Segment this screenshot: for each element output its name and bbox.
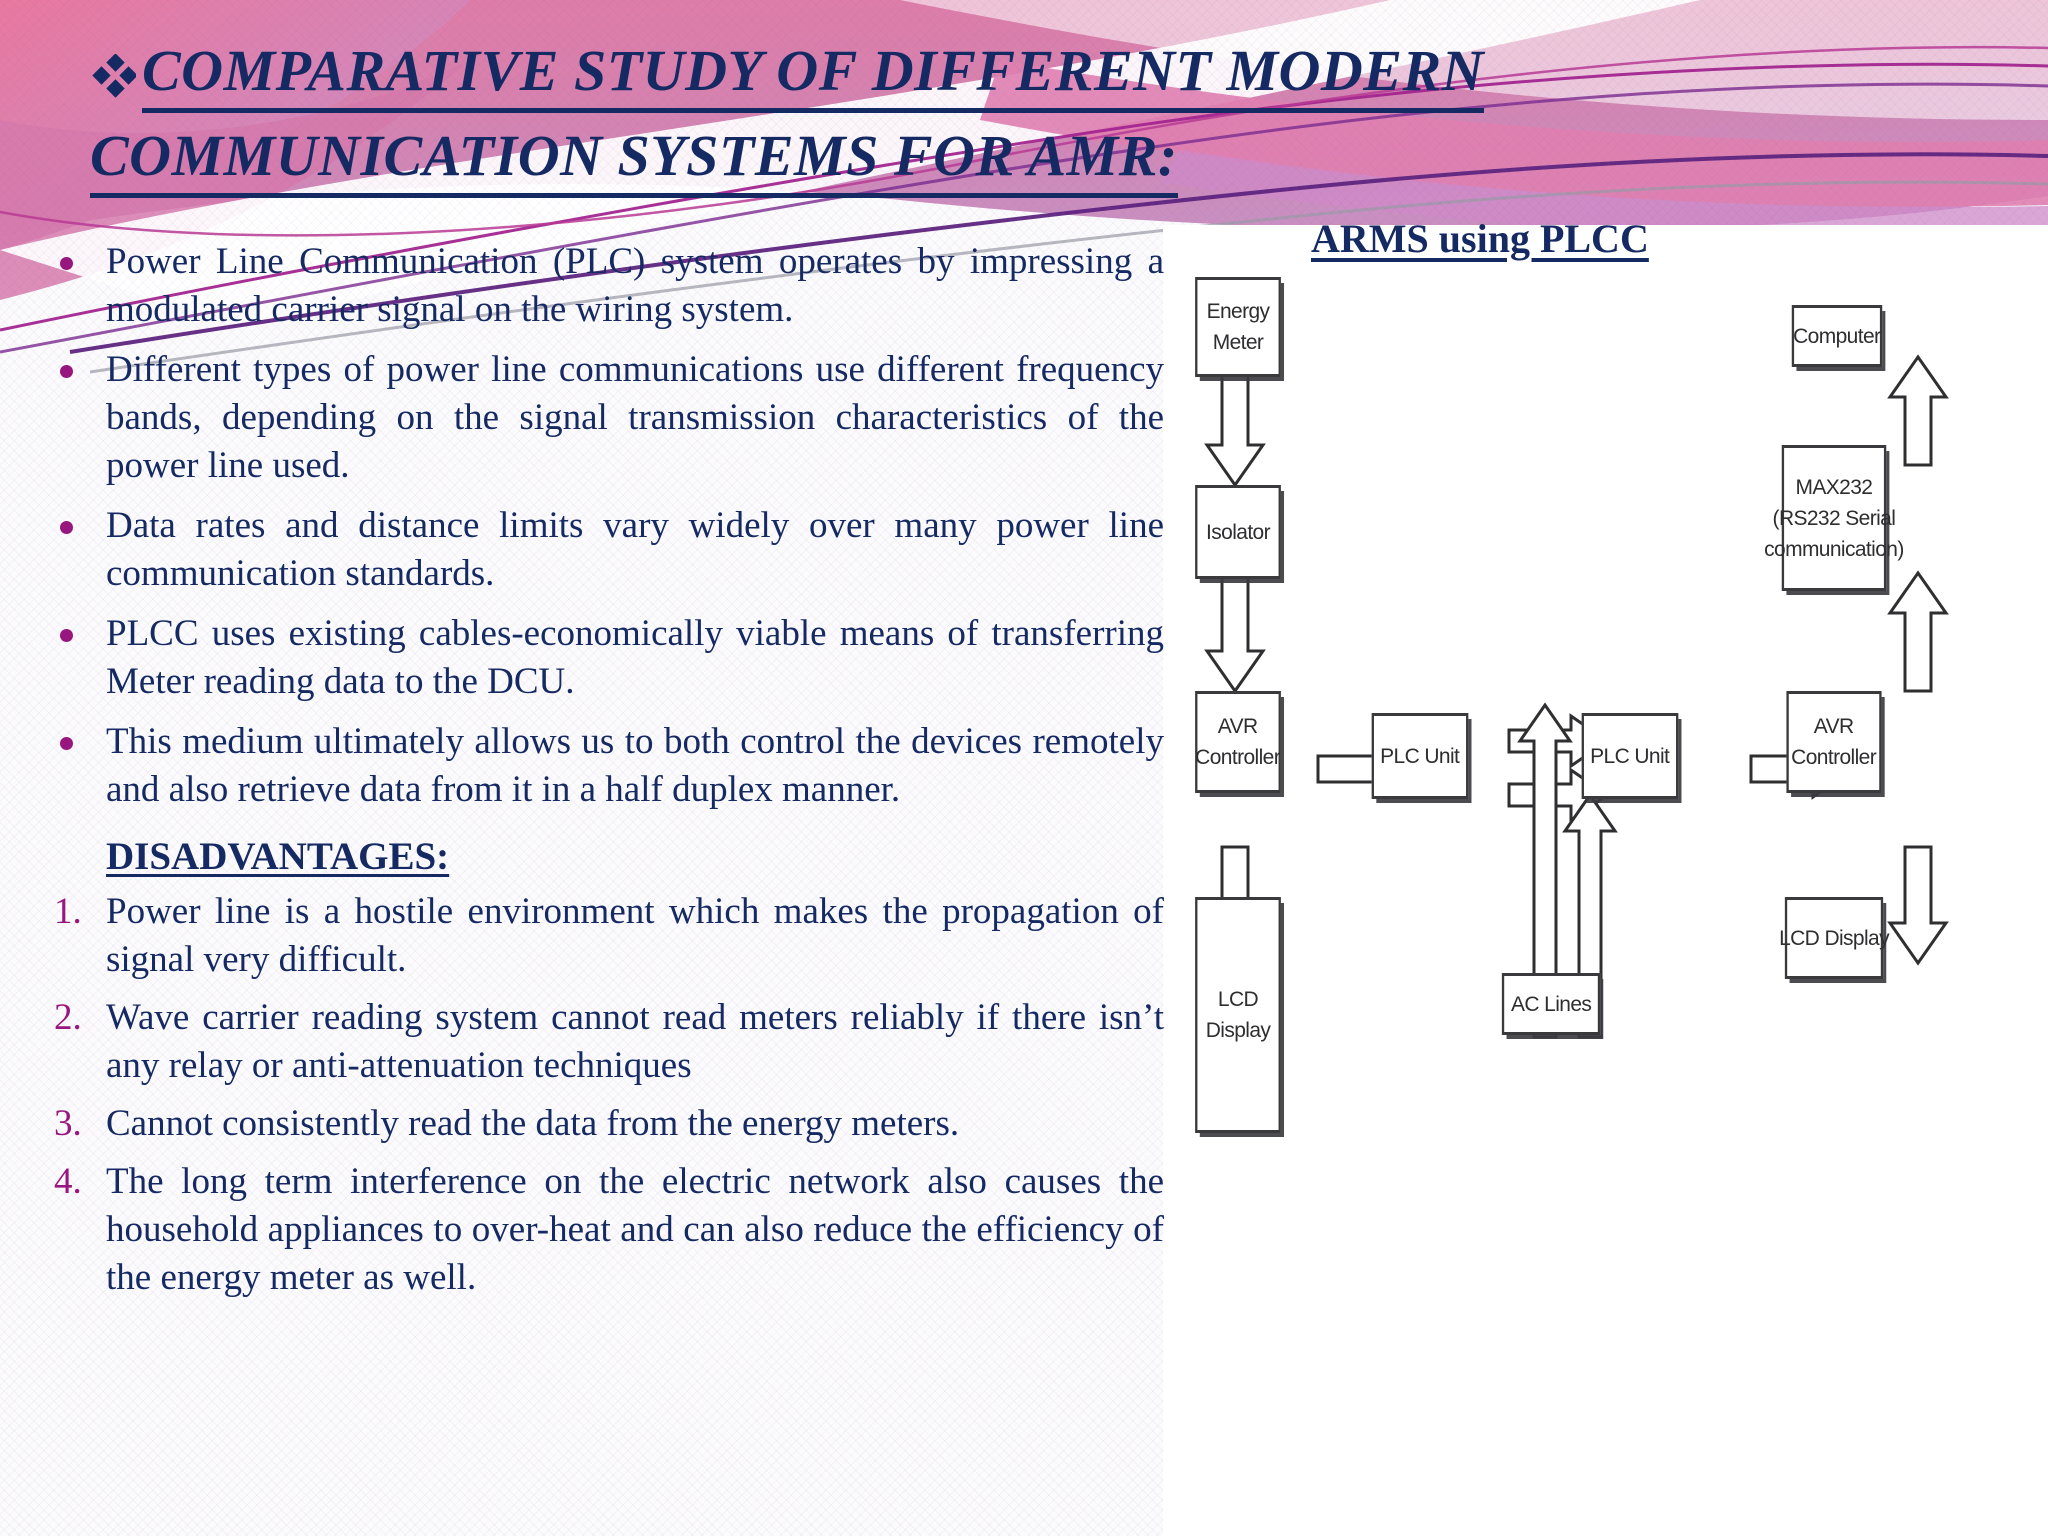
node-lcd-display-right: LCD Display xyxy=(1785,897,1883,979)
node-label: Isolator xyxy=(1206,517,1270,548)
list-item: 1. Power line is a hostile environment w… xyxy=(24,888,1164,984)
node-avr-controller-left: AVR Controller xyxy=(1195,691,1281,793)
diagram-arrows xyxy=(1163,225,2048,1536)
bullet-dot-icon xyxy=(60,521,73,534)
list-number: 3. xyxy=(54,1100,82,1148)
bullet-dot-icon xyxy=(60,257,73,270)
bullet-dot-icon xyxy=(60,737,73,750)
list-item: Data rates and distance limits vary wide… xyxy=(24,502,1164,598)
list-item: 3. Cannot consistently read the data fro… xyxy=(24,1100,1164,1148)
node-label: PLC Unit xyxy=(1380,741,1459,772)
list-number: 4. xyxy=(54,1158,82,1206)
node-label: AC Lines xyxy=(1511,989,1591,1020)
slide-title: COMPARATIVE STUDY OF DIFFERENT MODERN CO… xyxy=(96,36,1736,198)
node-plc-unit-right: PLC Unit xyxy=(1582,713,1679,799)
list-item: Power Line Communication (PLC) system op… xyxy=(24,238,1164,334)
list-number: 1. xyxy=(54,888,82,936)
bullet-text: Different types of power line communicat… xyxy=(106,349,1164,486)
bullet-dot-icon xyxy=(60,629,73,642)
arms-plcc-block-diagram: ARMS using PLCC xyxy=(1163,225,2048,1536)
node-energy-meter: Energy Meter xyxy=(1195,277,1281,377)
node-label: LCD Display xyxy=(1186,984,1290,1046)
node-label: PLC Unit xyxy=(1590,741,1669,772)
node-label: MAX232 (RS232 Serial communication) xyxy=(1764,472,1904,565)
node-max232: MAX232 (RS232 Serial communication) xyxy=(1782,445,1887,591)
node-label: Energy Meter xyxy=(1186,296,1290,358)
list-item-text: Power line is a hostile environment whic… xyxy=(106,891,1164,980)
node-avr-controller-right: AVR Controller xyxy=(1786,691,1881,793)
list-item-text: Cannot consistently read the data from t… xyxy=(106,1103,959,1144)
content-text-column: Power Line Communication (PLC) system op… xyxy=(24,238,1164,1312)
list-item-text: The long term interference on the electr… xyxy=(106,1161,1164,1298)
list-item: PLCC uses existing cables-economically v… xyxy=(24,610,1164,706)
title-line-2: COMMUNICATION SYSTEMS FOR AMR: xyxy=(90,121,1178,198)
node-label: LCD Display xyxy=(1779,923,1889,954)
node-label: Computer xyxy=(1793,321,1880,352)
bullet-text: Data rates and distance limits vary wide… xyxy=(106,505,1164,594)
node-lcd-display-left: LCD Display xyxy=(1195,897,1281,1133)
node-computer: Computer xyxy=(1792,305,1882,367)
disadvantages-list: 1. Power line is a hostile environment w… xyxy=(24,888,1164,1302)
list-item: 4. The long term interference on the ele… xyxy=(24,1158,1164,1302)
bullet-text: PLCC uses existing cables-economically v… xyxy=(106,613,1164,702)
diamond-cluster-icon xyxy=(92,54,136,98)
disadvantages-heading: DISADVANTAGES: xyxy=(106,832,449,882)
list-number: 2. xyxy=(54,994,82,1042)
bullet-text: This medium ultimately allows us to both… xyxy=(106,721,1164,810)
title-line-1: COMPARATIVE STUDY OF DIFFERENT MODERN xyxy=(142,36,1484,113)
bullet-dot-icon xyxy=(60,365,73,378)
node-plc-unit-left: PLC Unit xyxy=(1372,713,1469,799)
list-item: This medium ultimately allows us to both… xyxy=(24,718,1164,814)
node-label: AVR Controller xyxy=(1792,711,1877,773)
list-item: 2. Wave carrier reading system cannot re… xyxy=(24,994,1164,1090)
node-isolator: Isolator xyxy=(1195,485,1281,579)
list-item: Different types of power line communicat… xyxy=(24,346,1164,490)
bullet-list: Power Line Communication (PLC) system op… xyxy=(24,238,1164,814)
bullet-text: Power Line Communication (PLC) system op… xyxy=(106,241,1164,330)
list-item-text: Wave carrier reading system cannot read … xyxy=(106,997,1164,1086)
node-ac-lines: AC Lines xyxy=(1502,973,1600,1035)
node-label: AVR Controller xyxy=(1196,711,1281,773)
